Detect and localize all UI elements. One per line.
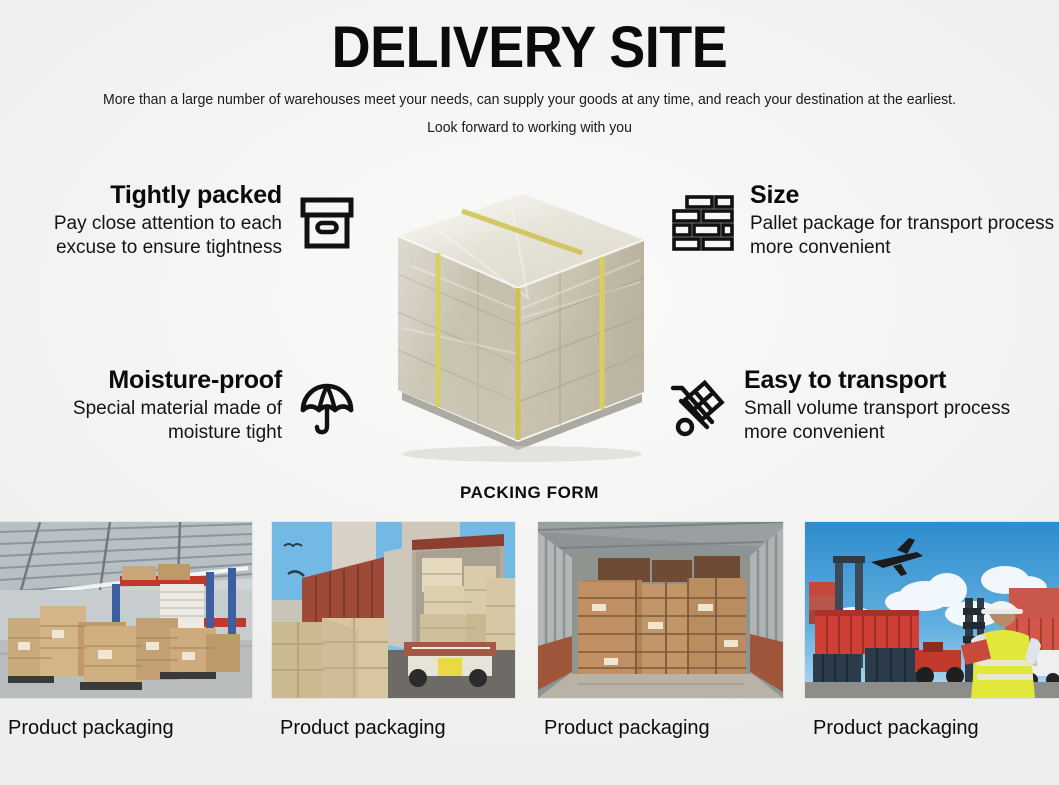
page-title: DELIVERY SITE	[37, 16, 1022, 80]
feature-size: Size Pallet package for transport proces…	[670, 180, 1059, 260]
container-interior-photo	[538, 522, 783, 698]
feature-description: Pay close attention to each excuse to en…	[0, 212, 282, 260]
gallery-item-container-interior[interactable]: Product packaging	[538, 522, 783, 740]
brick-wall-icon	[670, 194, 736, 259]
feature-title: Tightly packed	[0, 180, 282, 210]
archive-box-icon	[298, 194, 356, 257]
feature-title: Moisture-proof	[0, 365, 282, 395]
feature-description: Pallet package for transport process mor…	[750, 212, 1059, 260]
gallery-caption: Product packaging	[538, 716, 783, 740]
port-logistics-photo	[805, 522, 1059, 698]
shrink-wrapped-pallet-photo	[372, 178, 660, 466]
packing-form-gallery: Product packaging	[0, 522, 1059, 772]
packing-form-label: PACKING FORM	[0, 483, 1059, 503]
delivery-site-banner: DELIVERY SITE More than a large number o…	[0, 0, 1059, 785]
gallery-item-warehouse[interactable]: Product packaging	[0, 522, 252, 740]
gallery-item-container-loading[interactable]: Product packaging	[272, 522, 515, 740]
feature-moisture-proof: Moisture-proof Special material made of …	[0, 365, 360, 445]
gallery-item-port-logistics[interactable]: Product packaging	[805, 522, 1059, 740]
gallery-caption: Product packaging	[272, 716, 515, 740]
container-loading-photo	[272, 522, 515, 698]
warehouse-photo	[0, 522, 252, 698]
subtitle-line-1: More than a large number of warehouses m…	[16, 90, 1043, 110]
gallery-caption: Product packaging	[805, 716, 1059, 740]
subtitle-line-2: Look forward to working with you	[16, 118, 1043, 138]
hand-truck-icon	[668, 379, 730, 444]
feature-easy-to-transport: Easy to transport Small volume transport…	[668, 365, 1059, 445]
umbrella-icon	[298, 381, 356, 444]
feature-title: Easy to transport	[744, 365, 1054, 395]
feature-description: Small volume transport process more conv…	[744, 397, 1054, 445]
feature-tightly-packed: Tightly packed Pay close attention to ea…	[0, 180, 360, 260]
gallery-caption: Product packaging	[0, 716, 252, 740]
feature-description: Special material made of moisture tight	[0, 397, 282, 445]
feature-title: Size	[750, 180, 1059, 210]
